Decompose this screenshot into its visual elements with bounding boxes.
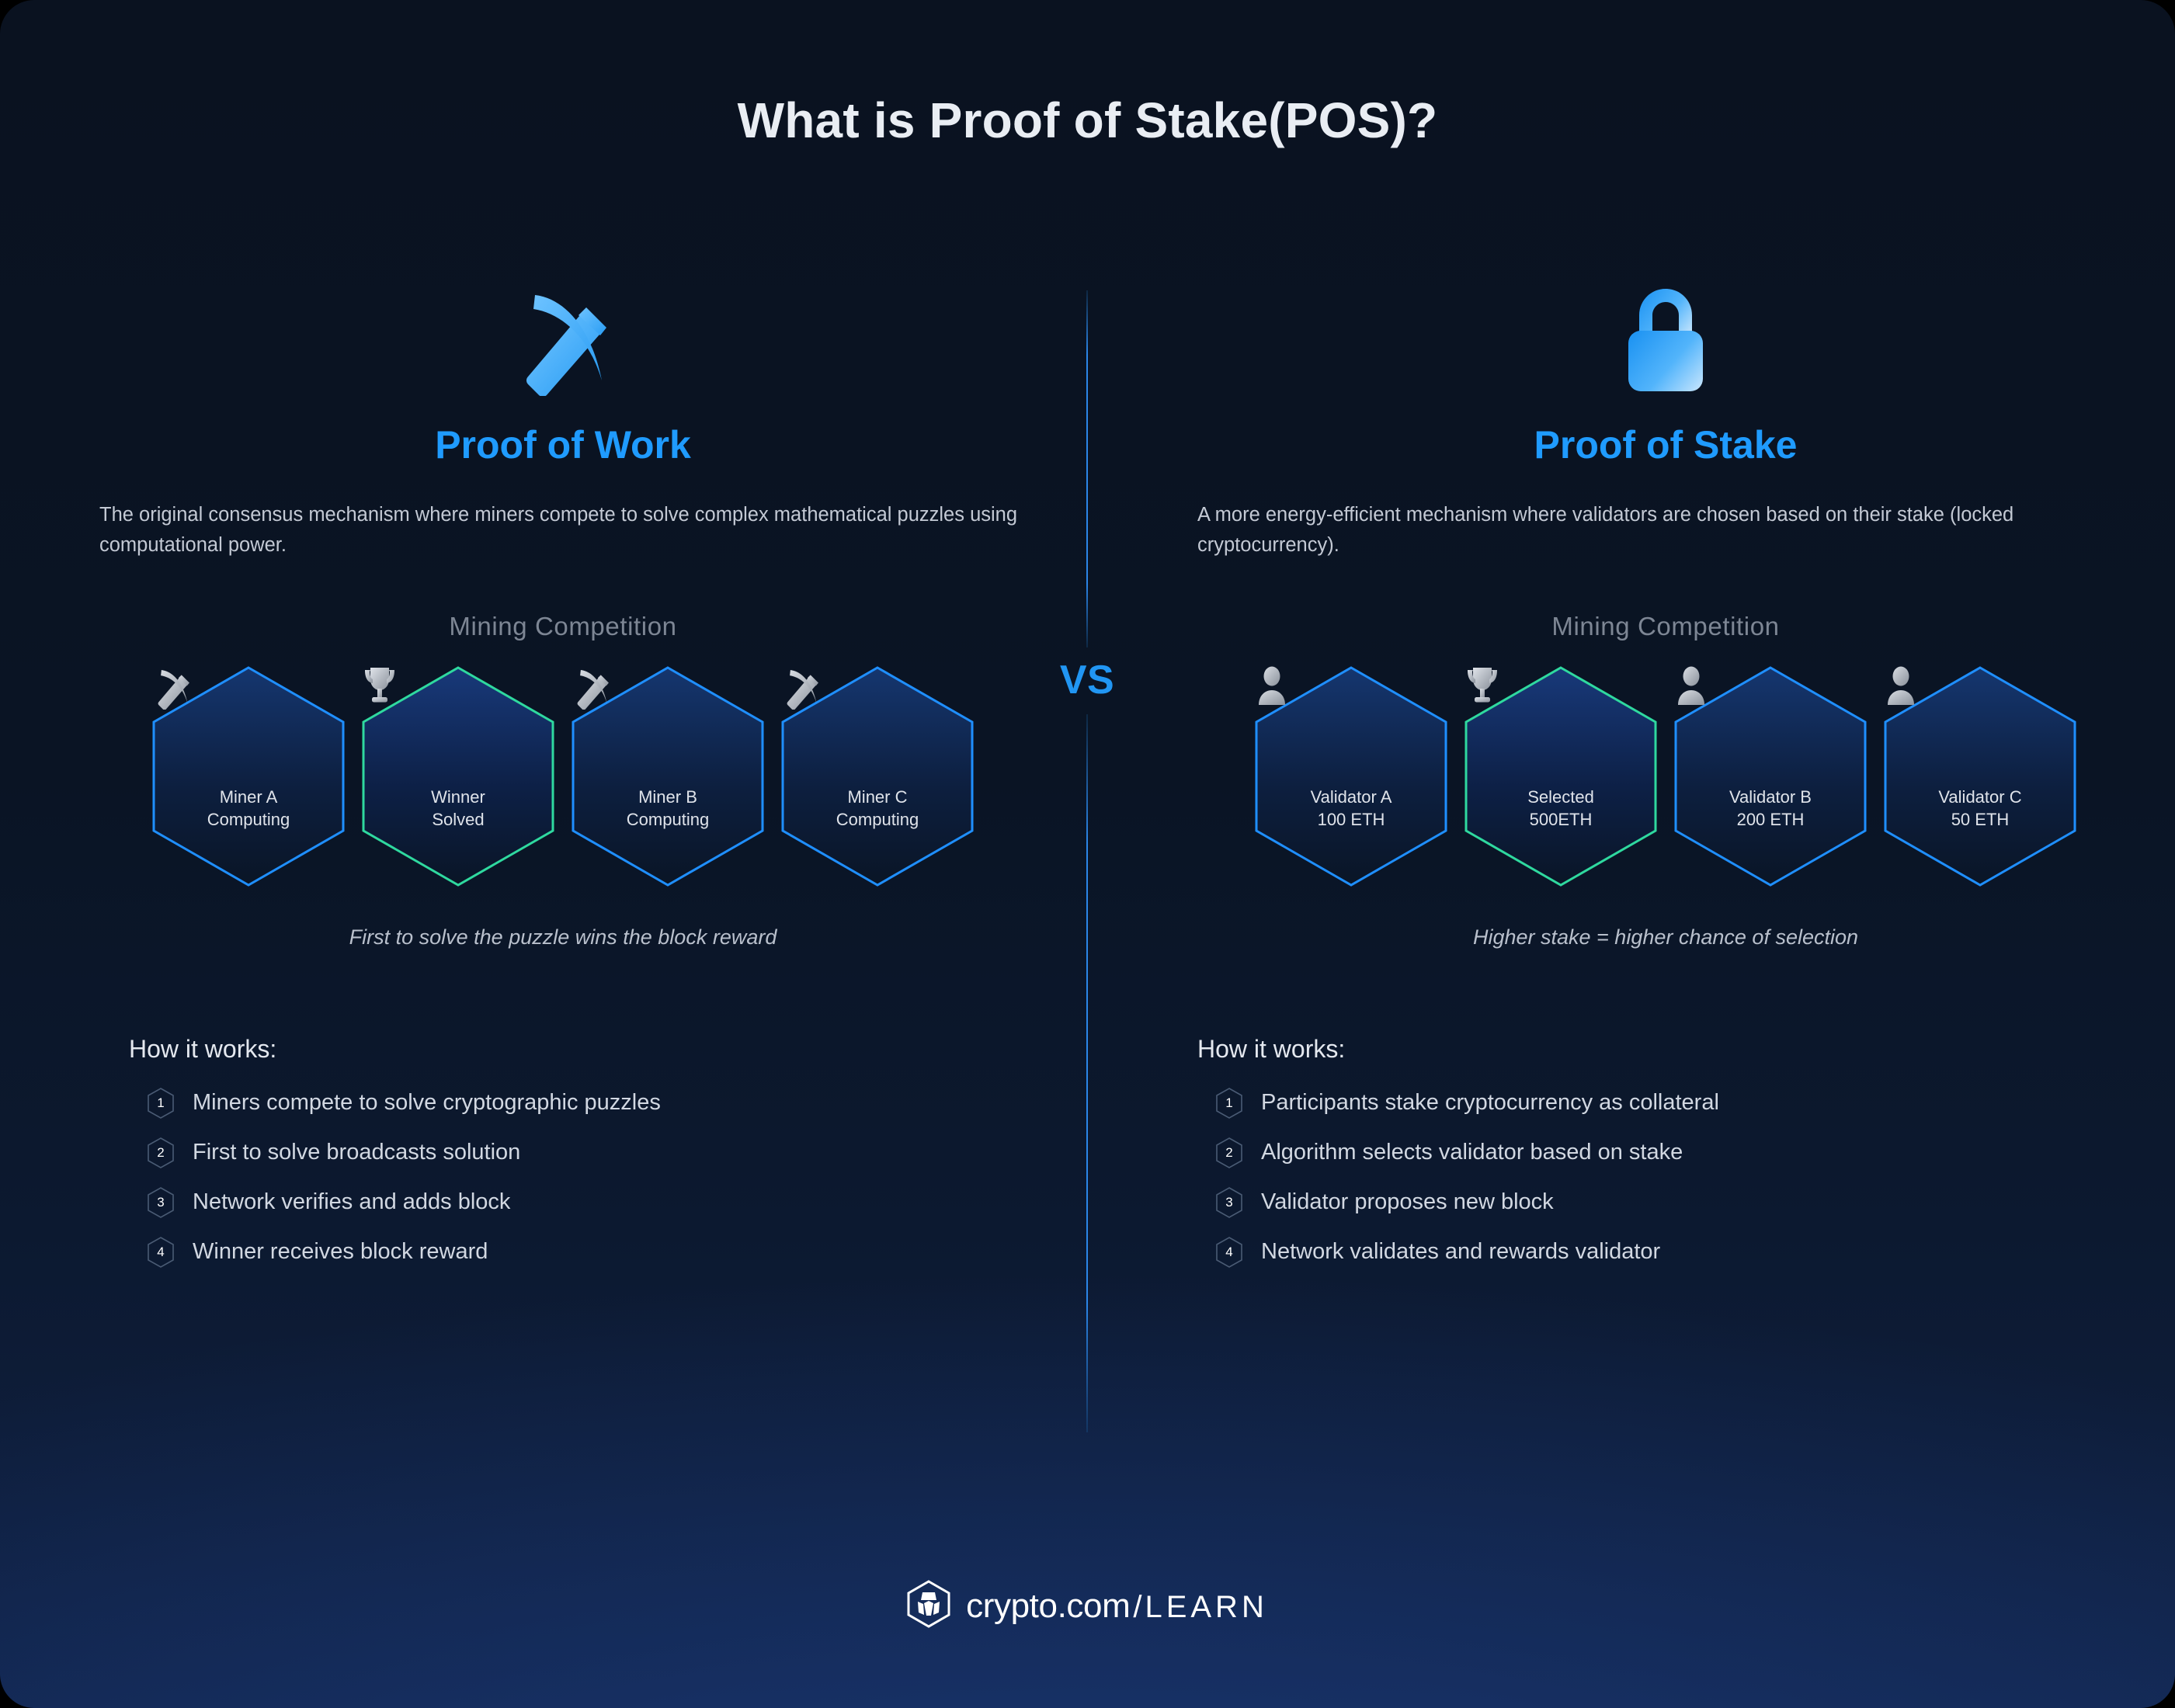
- validator-hexagon-row: Validator A 100 ETH: [1149, 665, 2175, 888]
- page-title: What is Proof of Stake(POS)?: [0, 92, 2175, 149]
- hex-node-miner-b[interactable]: Miner B Computing: [570, 665, 766, 888]
- miner-hexagon-row: Miner A Computing: [47, 665, 1079, 888]
- proof-of-work-description: The original consensus mechanism where m…: [47, 500, 1079, 561]
- hex-node-label: Winner Solved: [431, 786, 485, 831]
- step-text: Algorithm selects validator based on sta…: [1261, 1140, 1683, 1165]
- step-number-hexagon-icon: 3: [1216, 1187, 1242, 1218]
- center-divider-bottom: [1086, 714, 1088, 1432]
- proof-of-stake-heading: Proof of Stake: [1149, 422, 2175, 467]
- proof-of-stake-description: A more energy-efficient mechanism where …: [1149, 500, 2175, 561]
- proof-of-work-column: Proof of Work The original consensus mec…: [47, 279, 1079, 1284]
- hex-node-validator-b[interactable]: Validator B 200 ETH: [1673, 665, 1868, 888]
- pickaxe-icon: [47, 279, 1079, 396]
- list-item: 4 Network validates and rewards validato…: [1216, 1234, 2175, 1270]
- proof-of-stake-column: Proof of Stake A more energy-efficient m…: [1149, 279, 2175, 1284]
- right-how-it-works-title: How it works:: [1149, 1035, 2175, 1064]
- hex-node-validator-a[interactable]: Validator A 100 ETH: [1253, 665, 1449, 888]
- proof-of-work-heading: Proof of Work: [47, 422, 1079, 467]
- footer-wordmark: crypto.com: [966, 1587, 1130, 1626]
- right-caption: Higher stake = higher chance of selectio…: [1149, 925, 2175, 949]
- left-steps-list: 1 Miners compete to solve cryptographic …: [47, 1085, 1079, 1270]
- hex-node-label: Selected 500ETH: [1527, 786, 1594, 831]
- lock-icon: [1149, 279, 2175, 396]
- hex-node-miner-c[interactable]: Miner C Computing: [780, 665, 975, 888]
- list-item: 1 Participants stake cryptocurrency as c…: [1216, 1085, 2175, 1121]
- step-number-hexagon-icon: 3: [148, 1187, 174, 1218]
- step-text: First to solve broadcasts solution: [193, 1140, 520, 1165]
- list-item: 1 Miners compete to solve cryptographic …: [148, 1085, 1079, 1121]
- step-text: Winner receives block reward: [193, 1239, 488, 1265]
- list-item: 3 Network verifies and adds block: [148, 1185, 1079, 1220]
- right-section-label: Mining Competition: [1149, 612, 2175, 641]
- footer: crypto.com / LEARN: [0, 1580, 2175, 1632]
- hex-node-miner-a[interactable]: Miner A Computing: [151, 665, 346, 888]
- list-item: 2 Algorithm selects validator based on s…: [1216, 1135, 2175, 1171]
- hex-node-label: Miner A Computing: [207, 786, 290, 831]
- step-number-hexagon-icon: 2: [1216, 1137, 1242, 1168]
- center-divider-top: [1086, 290, 1088, 647]
- crypto-com-logo-icon: [907, 1580, 950, 1632]
- step-number-hexagon-icon: 4: [1216, 1237, 1242, 1268]
- right-steps-list: 1 Participants stake cryptocurrency as c…: [1149, 1085, 2175, 1270]
- hex-node-label: Validator B 200 ETH: [1729, 786, 1812, 831]
- hex-node-label: Miner B Computing: [627, 786, 709, 831]
- list-item: 4 Winner receives block reward: [148, 1234, 1079, 1270]
- list-item: 2 First to solve broadcasts solution: [148, 1135, 1079, 1171]
- footer-separator: /: [1133, 1590, 1141, 1625]
- step-text: Validator proposes new block: [1261, 1189, 1554, 1215]
- hex-node-label: Miner C Computing: [836, 786, 919, 831]
- hex-node-label: Validator C 50 ETH: [1938, 786, 2021, 831]
- step-number-hexagon-icon: 1: [148, 1088, 174, 1119]
- hex-node-winner[interactable]: Winner Solved: [360, 665, 556, 888]
- step-text: Miners compete to solve cryptographic pu…: [193, 1090, 661, 1116]
- hex-node-selected[interactable]: Selected 500ETH: [1463, 665, 1659, 888]
- step-text: Participants stake cryptocurrency as col…: [1261, 1090, 1719, 1116]
- step-number-hexagon-icon: 2: [148, 1137, 174, 1168]
- hex-node-label: Validator A 100 ETH: [1311, 786, 1392, 831]
- list-item: 3 Validator proposes new block: [1216, 1185, 2175, 1220]
- step-number-hexagon-icon: 1: [1216, 1088, 1242, 1119]
- left-how-it-works-title: How it works:: [47, 1035, 1079, 1064]
- hex-node-validator-c[interactable]: Validator C 50 ETH: [1882, 665, 2078, 888]
- left-caption: First to solve the puzzle wins the block…: [47, 925, 1079, 949]
- left-section-label: Mining Competition: [47, 612, 1079, 641]
- step-text: Network verifies and adds block: [193, 1189, 510, 1215]
- step-text: Network validates and rewards validator: [1261, 1239, 1660, 1265]
- step-number-hexagon-icon: 4: [148, 1237, 174, 1268]
- footer-learn-label: LEARN: [1145, 1590, 1267, 1625]
- infographic-canvas: What is Proof of Stake(POS)? VS Proof of…: [0, 0, 2175, 1708]
